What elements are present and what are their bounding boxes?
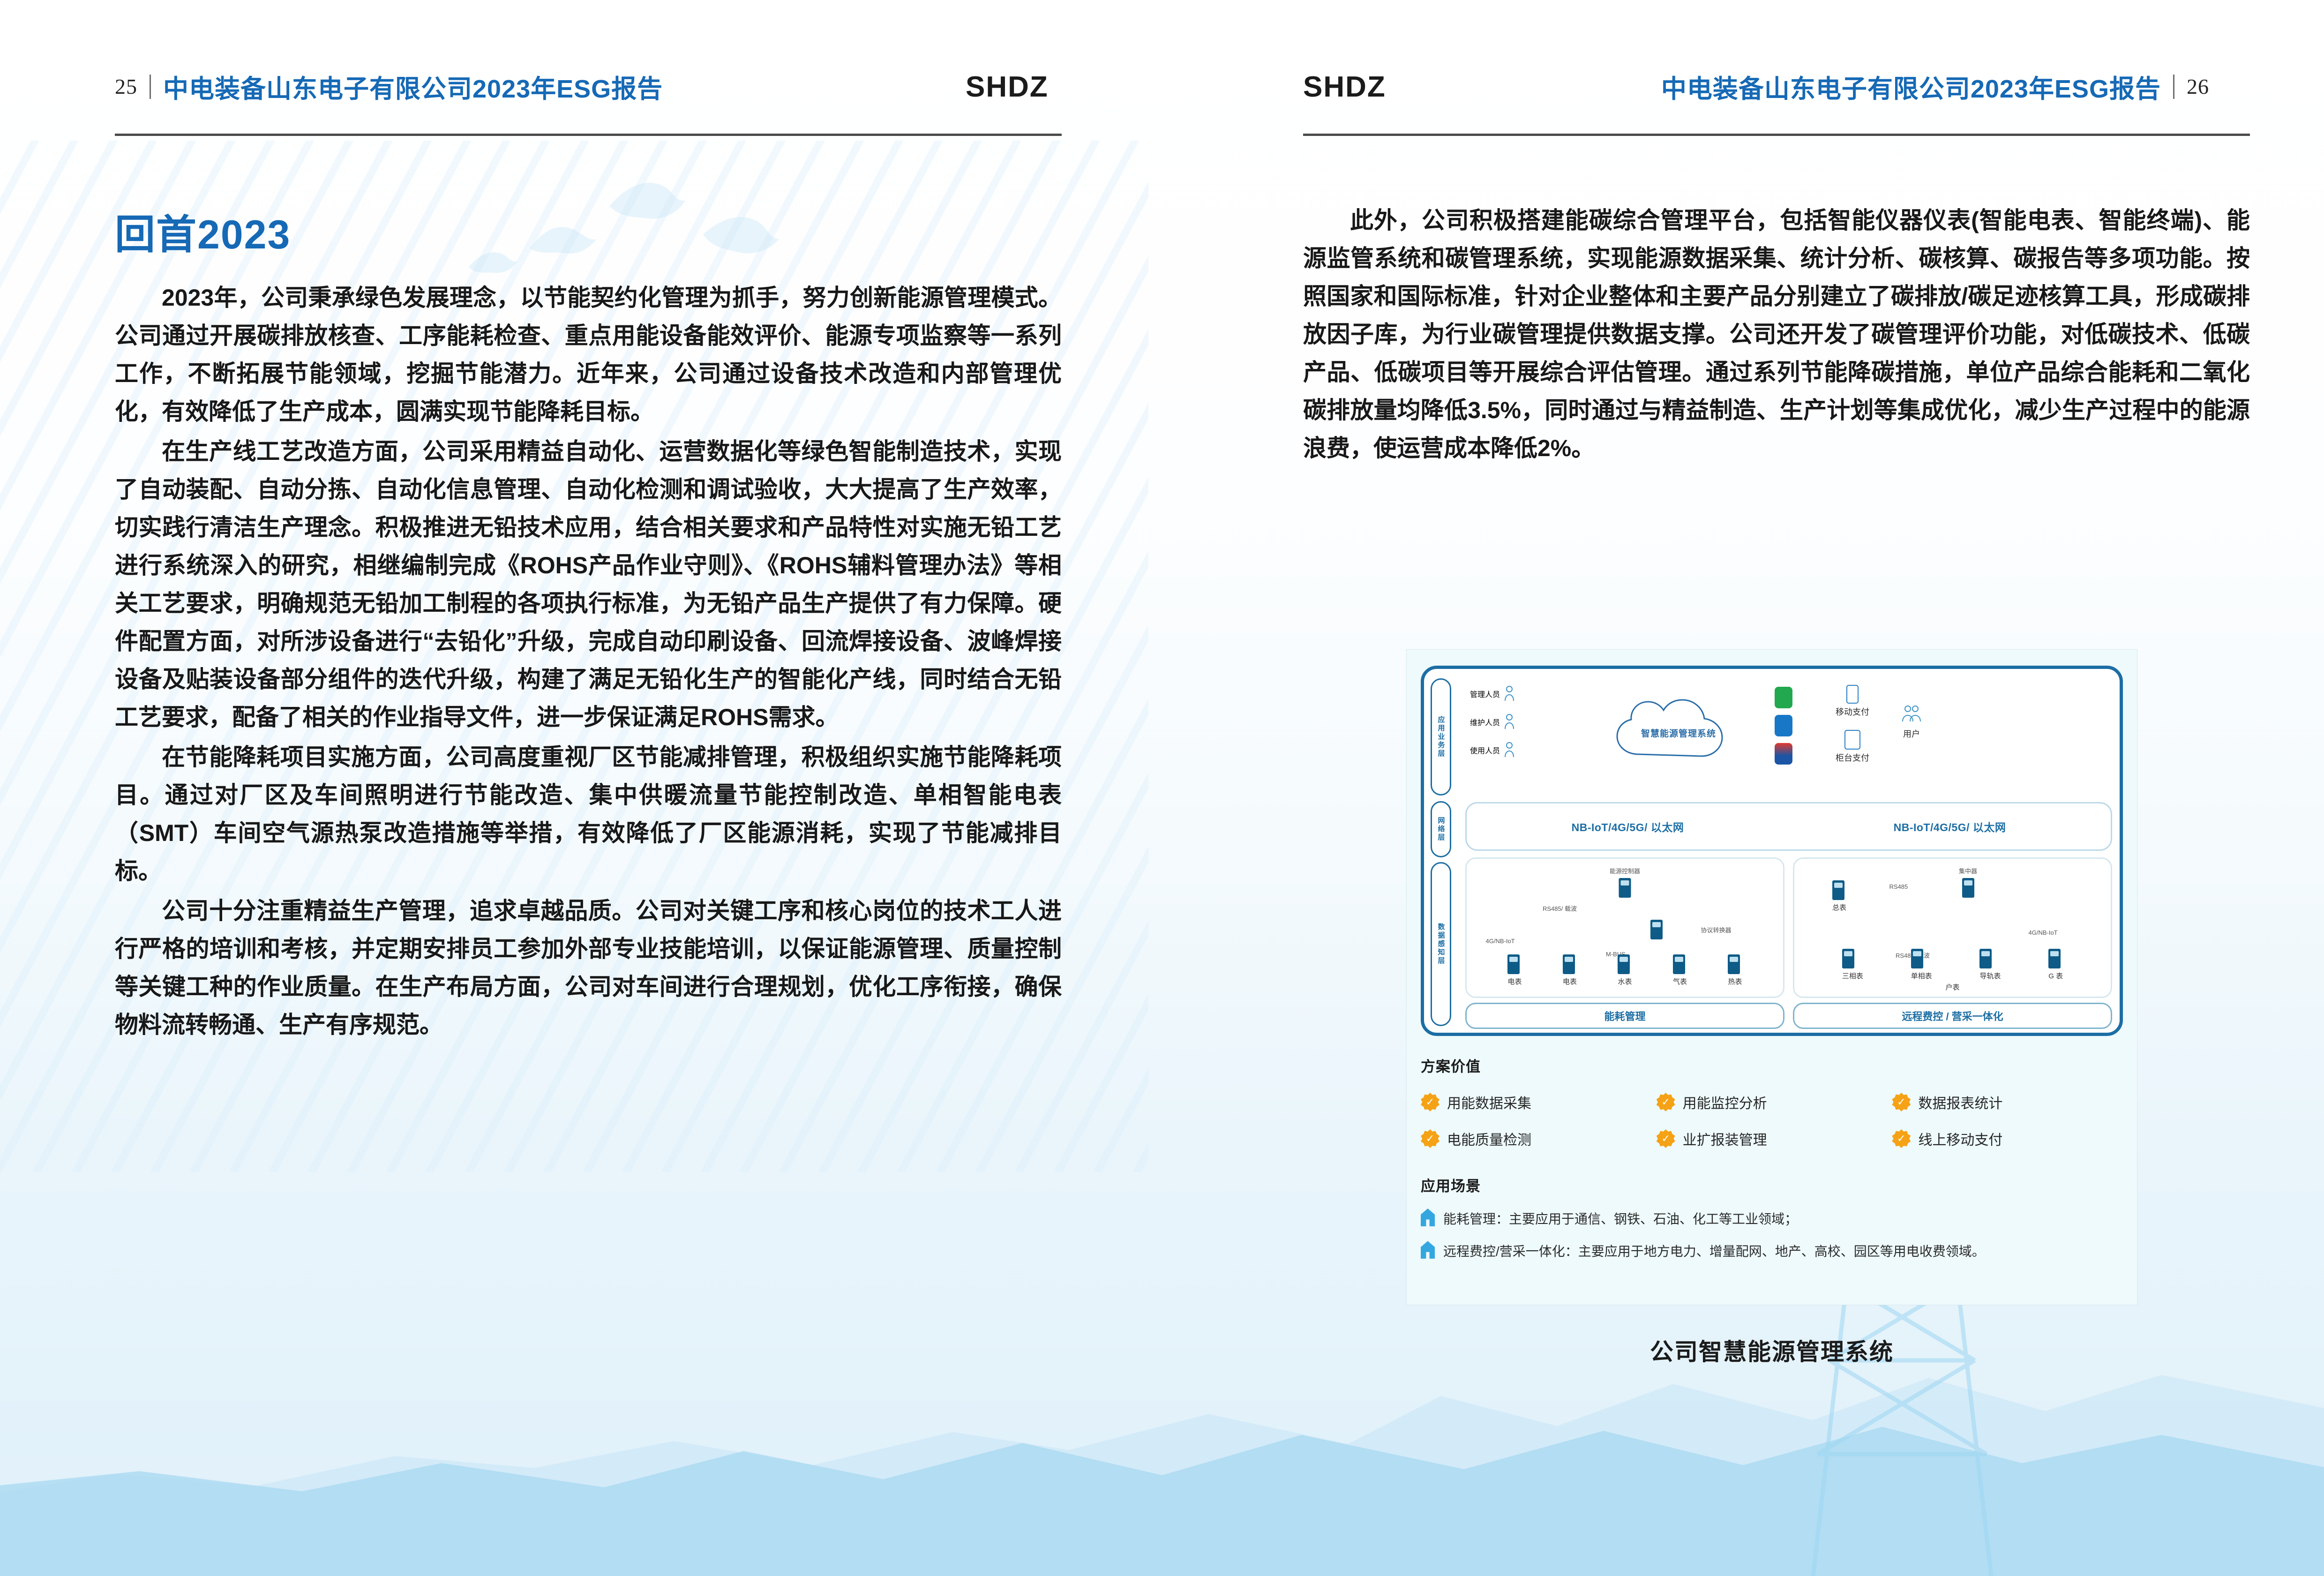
meter-item: 水表 bbox=[1618, 954, 1632, 986]
unionpay-app-icon bbox=[1775, 743, 1792, 765]
layer-tab-label: 网络层 bbox=[1436, 817, 1446, 842]
value-item: ✓电能质量检测 bbox=[1421, 1128, 1652, 1149]
building-icon bbox=[1421, 1241, 1435, 1259]
page-number-left: 25 bbox=[115, 74, 137, 99]
concentrator-icon bbox=[1962, 878, 1974, 898]
payment-channels: 移动支付 柜台支付 bbox=[1836, 685, 1869, 764]
check-badge-icon: ✓ bbox=[1657, 1093, 1675, 1111]
person-icon bbox=[1504, 742, 1515, 758]
diagram-bottom-pills: 能耗管理 远程费控 / 营采一体化 bbox=[1465, 1003, 2112, 1029]
check-badge-icon: ✓ bbox=[1421, 1093, 1439, 1111]
building-icon bbox=[1421, 1208, 1435, 1226]
meter-item: 导轨表 bbox=[1979, 949, 2001, 981]
main-meter-icon bbox=[1832, 880, 1844, 900]
scenario-list: 能耗管理：主要应用于通信、钢铁、石油、化工等工业领域； 远程费控/营采一体化：主… bbox=[1421, 1208, 2123, 1262]
meter-item: 热表 bbox=[1728, 954, 1742, 986]
meter-icon bbox=[1563, 954, 1575, 974]
layer-tab-label: 数据感知层 bbox=[1436, 923, 1446, 965]
link-label: 4G/NB-IoT bbox=[2029, 929, 2058, 936]
phone-icon bbox=[1846, 685, 1859, 704]
actor-label: 管理人员 bbox=[1470, 688, 1500, 699]
meter-icon bbox=[1842, 949, 1854, 968]
meter-icon bbox=[2048, 949, 2061, 968]
running-title-right: 中电装备山东电子有限公司2023年ESG报告 bbox=[1661, 68, 2161, 105]
controller-label: 能源控制器 bbox=[1610, 866, 1640, 875]
left-column-content: 回首2023 2023年，公司秉承绿色发展理念，以节能契约化管理为抓手，努力创新… bbox=[115, 202, 1062, 1046]
actor-maintainer: 维护人员 bbox=[1470, 714, 1515, 730]
header-rule-right bbox=[1303, 134, 2250, 136]
meter-icon bbox=[1507, 954, 1520, 974]
actor-manager: 管理人员 bbox=[1470, 686, 1515, 702]
person-icon bbox=[1504, 686, 1515, 702]
cloud-system-node: 智慧能源管理系统 bbox=[1606, 693, 1751, 772]
meter-icon bbox=[1911, 949, 1923, 968]
network-label: NB-IoT/4G/5G/ 以太网 bbox=[1572, 818, 1684, 834]
pill-remote-billing: 远程费控 / 营采一体化 bbox=[1793, 1003, 2112, 1029]
person-icon bbox=[1504, 714, 1515, 730]
header-divider bbox=[2173, 75, 2174, 99]
application-layer-row: 管理人员 维护人员 使用人员 bbox=[1465, 677, 2112, 800]
cloud-label: 智慧能源管理系统 bbox=[1606, 693, 1751, 772]
protocol-converter-icon bbox=[1650, 920, 1663, 939]
figure-smart-energy-system: 应用业务层 网络层 数据感知层 管理人员 bbox=[1406, 649, 2137, 1367]
header-rule-left bbox=[115, 134, 1062, 136]
network-layer-band: NB-IoT/4G/5G/ 以太网 NB-IoT/4G/5G/ 以太网 bbox=[1465, 802, 2112, 851]
payment-label: 柜台支付 bbox=[1836, 751, 1869, 764]
brand-logo-left: SHDZ bbox=[966, 70, 1049, 104]
pos-terminal-icon bbox=[1844, 730, 1860, 750]
link-label: RS485 bbox=[1889, 883, 1908, 890]
link-label: RS485/ 载波 bbox=[1543, 904, 1577, 913]
meter-item: 电表 bbox=[1563, 954, 1577, 986]
scenario-item: 远程费控/营采一体化：主要应用于地方电力、增量配网、地产、高校、园区等用电收费领… bbox=[1421, 1241, 2123, 1262]
left-page: 25 中电装备山东电子有限公司2023年ESG报告 SHDZ 回首2023 20… bbox=[0, 0, 1162, 1576]
meter-item: 电表 bbox=[1507, 954, 1522, 986]
meter-item: 气表 bbox=[1673, 954, 1687, 986]
concentrator-label: 集中器 bbox=[1959, 866, 1977, 875]
app-channel-icons bbox=[1775, 687, 1792, 771]
meter-icon bbox=[1618, 954, 1630, 974]
link-label: 4G/NB-IoT bbox=[1486, 938, 1515, 945]
meter-icon bbox=[1728, 954, 1740, 974]
paragraph: 在生产线工艺改造方面，公司采用精益自动化、运营数据化等绿色智能制造技术，实现了自… bbox=[115, 433, 1062, 736]
meter-item: G 表 bbox=[2048, 949, 2063, 981]
value-item: ✓业扩报装管理 bbox=[1657, 1128, 1888, 1149]
end-user-group: 用户 bbox=[1901, 705, 1922, 740]
layer-tab-application: 应用业务层 bbox=[1431, 678, 1451, 796]
layer-tab-device: 数据感知层 bbox=[1431, 862, 1451, 1026]
device-layer-row: 能源控制器 RS485/ 载波 4G/NB-IoT 协议转换器 M-BUS 电表… bbox=[1465, 857, 2112, 998]
payment-label: 移动支付 bbox=[1836, 705, 1869, 718]
check-badge-icon: ✓ bbox=[1421, 1129, 1439, 1148]
scenario-heading: 应用场景 bbox=[1421, 1174, 2123, 1195]
page-number-right: 26 bbox=[2187, 74, 2209, 99]
meter-icon bbox=[1979, 949, 1992, 968]
actor-label: 维护人员 bbox=[1470, 716, 1500, 728]
value-item-grid: ✓用能数据采集 ✓用能监控分析 ✓数据报表统计 ✓电能质量检测 ✓业扩报装管理 … bbox=[1421, 1092, 2123, 1149]
paragraph: 在节能降耗项目实施方面，公司高度重视厂区节能减排管理，积极组织实施节能降耗项目。… bbox=[115, 738, 1062, 890]
paragraph: 此外，公司积极搭建能碳综合管理平台，包括智能仪器仪表(智能电表、智能终端)、能源… bbox=[1303, 202, 2250, 467]
meter-icon bbox=[1673, 954, 1685, 974]
actor-user: 使用人员 bbox=[1470, 742, 1515, 758]
layer-tab-label: 应用业务层 bbox=[1436, 716, 1446, 758]
device-group-left: 能源控制器 RS485/ 载波 4G/NB-IoT 协议转换器 M-BUS 电表… bbox=[1465, 857, 1784, 998]
wechat-app-icon bbox=[1775, 687, 1792, 708]
main-meter-label: 总表 bbox=[1832, 902, 1846, 912]
value-item: ✓线上移动支付 bbox=[1892, 1128, 2123, 1149]
page-title: 回首2023 bbox=[115, 202, 1062, 260]
meter-item: 三相表 bbox=[1842, 949, 1863, 981]
check-badge-icon: ✓ bbox=[1657, 1129, 1675, 1148]
header-divider bbox=[150, 75, 151, 99]
value-item: ✓用能数据采集 bbox=[1421, 1092, 1652, 1112]
users-icon bbox=[1901, 705, 1922, 723]
value-item: ✓数据报表统计 bbox=[1892, 1092, 2123, 1112]
figure-card: 应用业务层 网络层 数据感知层 管理人员 bbox=[1406, 649, 2137, 1305]
actor-label: 使用人员 bbox=[1470, 744, 1500, 756]
running-title-left: 中电装备山东电子有限公司2023年ESG报告 bbox=[163, 68, 663, 105]
scenario-item: 能耗管理：主要应用于通信、钢铁、石油、化工等工业领域； bbox=[1421, 1208, 2123, 1230]
pill-energy-management: 能耗管理 bbox=[1465, 1003, 1784, 1029]
meter-group-label: 户表 bbox=[1794, 982, 2111, 992]
alipay-app-icon bbox=[1775, 715, 1792, 736]
right-column-content: 此外，公司积极搭建能碳综合管理平台，包括智能仪器仪表(智能电表、智能终端)、能源… bbox=[1303, 202, 2250, 469]
layer-tab-network: 网络层 bbox=[1431, 801, 1451, 857]
architecture-diagram: 应用业务层 网络层 数据感知层 管理人员 bbox=[1421, 666, 2123, 1036]
converter-label: 协议转换器 bbox=[1701, 925, 1732, 934]
meter-item: 单相表 bbox=[1911, 949, 1932, 981]
device-group-right: 集中器 总表 RS485 4G/NB-IoT RS485/ 载波 三相表 单相表… bbox=[1793, 857, 2112, 998]
energy-controller-icon bbox=[1619, 878, 1631, 898]
check-badge-icon: ✓ bbox=[1892, 1129, 1911, 1148]
end-user-label: 用户 bbox=[1901, 728, 1922, 740]
actor-list: 管理人员 维护人员 使用人员 bbox=[1470, 686, 1515, 770]
paragraph: 2023年，公司秉承绿色发展理念，以节能契约化管理为抓手，努力创新能源管理模式。… bbox=[115, 279, 1062, 431]
value-heading: 方案价值 bbox=[1421, 1055, 2123, 1076]
network-label: NB-IoT/4G/5G/ 以太网 bbox=[1894, 818, 2006, 834]
paragraph: 公司十分注重精益生产管理，追求卓越品质。公司对关键工序和核心岗位的技术工人进行严… bbox=[115, 892, 1062, 1044]
value-item: ✓用能监控分析 bbox=[1657, 1092, 1888, 1112]
brand-logo-right: SHDZ bbox=[1303, 70, 1386, 104]
check-badge-icon: ✓ bbox=[1892, 1093, 1911, 1111]
figure-caption: 公司智慧能源管理系统 bbox=[1406, 1333, 2137, 1367]
